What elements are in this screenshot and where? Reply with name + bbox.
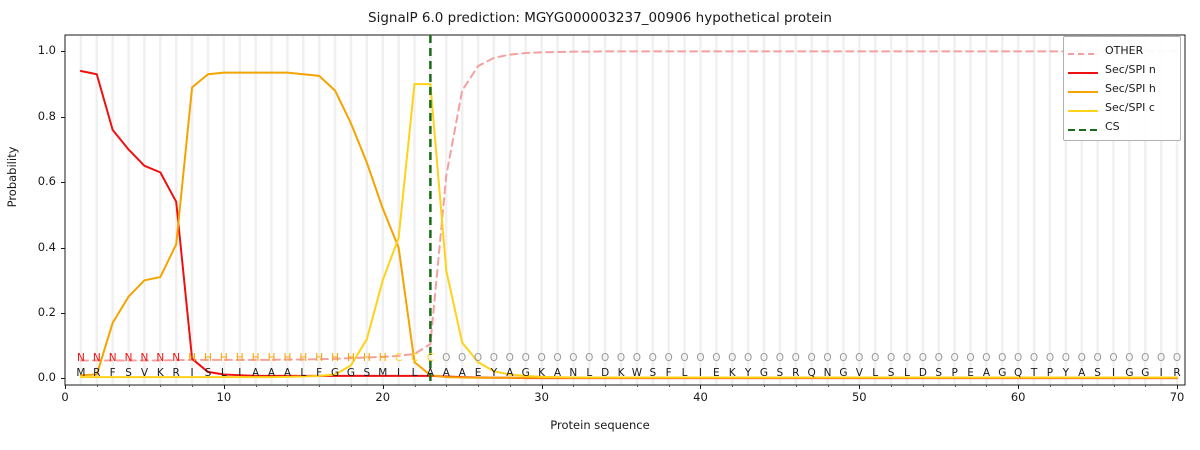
x-minor-tick-mark (986, 385, 987, 387)
x-tick-mark (859, 385, 860, 389)
legend-item-sec-spi-n[interactable]: Sec/SPI n (1068, 60, 1175, 79)
y-tick-label: 0.2 (0, 305, 56, 319)
region-label: O (1168, 352, 1186, 364)
y-tick-label: 0.8 (0, 109, 56, 123)
x-tick-label: 30 (522, 390, 562, 404)
legend-item-sec-spi-h[interactable]: Sec/SPI h (1068, 79, 1175, 98)
y-tick-label: 0.0 (0, 370, 56, 384)
chart-legend: OTHER Sec/SPI n Sec/SPI h Sec/SPI c CS (1063, 36, 1181, 141)
x-minor-tick-mark (891, 385, 892, 387)
y-tick-mark (61, 51, 65, 52)
legend-item-other[interactable]: OTHER (1068, 41, 1175, 60)
x-minor-tick-mark (573, 385, 574, 387)
plot-canvas (0, 0, 1200, 450)
grid-lines (81, 35, 1177, 385)
signalp-prediction-figure: SignalP 6.0 prediction: MGYG000003237_00… (0, 0, 1200, 450)
x-minor-tick-mark (1114, 385, 1115, 387)
x-minor-tick-mark (1145, 385, 1146, 387)
x-tick-mark (1018, 385, 1019, 389)
legend-label-sec-spi-n: Sec/SPI n (1105, 63, 1156, 76)
x-minor-tick-mark (637, 385, 638, 387)
legend-item-sec-spi-c[interactable]: Sec/SPI c (1068, 98, 1175, 117)
x-minor-tick-mark (1050, 385, 1051, 387)
x-minor-tick-mark (415, 385, 416, 387)
x-tick-label: 60 (998, 390, 1038, 404)
amino-acid-label: R (1168, 367, 1186, 379)
x-tick-mark (700, 385, 701, 389)
legend-swatch-other (1068, 45, 1098, 57)
x-minor-tick-mark (764, 385, 765, 387)
x-tick-label: 20 (363, 390, 403, 404)
series-line (81, 84, 1177, 377)
x-minor-tick-mark (160, 385, 161, 387)
x-minor-tick-mark (256, 385, 257, 387)
series-line (81, 71, 1177, 378)
x-minor-tick-mark (446, 385, 447, 387)
series-line (81, 73, 1177, 378)
x-minor-tick-mark (923, 385, 924, 387)
y-tick-mark (61, 378, 65, 379)
legend-swatch-sec-spi-c (1068, 102, 1098, 114)
x-minor-tick-mark (605, 385, 606, 387)
x-tick-mark (383, 385, 384, 389)
x-minor-tick-mark (129, 385, 130, 387)
x-tick-mark (542, 385, 543, 389)
legend-swatch-sec-spi-h (1068, 83, 1098, 95)
x-tick-label: 40 (680, 390, 720, 404)
x-minor-tick-mark (319, 385, 320, 387)
legend-label-cs: CS (1105, 120, 1120, 133)
legend-label-sec-spi-c: Sec/SPI c (1105, 101, 1155, 114)
y-tick-label: 0.4 (0, 240, 56, 254)
x-minor-tick-mark (1082, 385, 1083, 387)
legend-label-sec-spi-h: Sec/SPI h (1105, 82, 1156, 95)
x-minor-tick-mark (97, 385, 98, 387)
x-minor-tick-mark (955, 385, 956, 387)
legend-swatch-cs (1068, 121, 1098, 133)
x-tick-mark (65, 385, 66, 389)
x-minor-tick-mark (510, 385, 511, 387)
x-minor-tick-mark (192, 385, 193, 387)
legend-swatch-sec-spi-n (1068, 64, 1098, 76)
x-minor-tick-mark (478, 385, 479, 387)
y-tick-mark (61, 182, 65, 183)
y-tick-label: 0.6 (0, 174, 56, 188)
data-series-layer (81, 51, 1177, 378)
x-tick-mark (224, 385, 225, 389)
x-minor-tick-mark (732, 385, 733, 387)
x-tick-label: 10 (204, 390, 244, 404)
y-tick-mark (61, 117, 65, 118)
x-tick-mark (1177, 385, 1178, 389)
x-tick-label: 50 (839, 390, 879, 404)
legend-item-cs[interactable]: CS (1068, 117, 1175, 136)
y-tick-mark (61, 313, 65, 314)
x-tick-label: 0 (45, 390, 85, 404)
x-minor-tick-mark (669, 385, 670, 387)
x-minor-tick-mark (796, 385, 797, 387)
x-minor-tick-mark (351, 385, 352, 387)
x-minor-tick-mark (287, 385, 288, 387)
legend-label-other: OTHER (1105, 44, 1143, 57)
y-tick-label: 1.0 (0, 43, 56, 57)
series-line (81, 51, 1177, 360)
x-minor-tick-mark (828, 385, 829, 387)
y-tick-mark (61, 248, 65, 249)
x-tick-label: 70 (1157, 390, 1197, 404)
